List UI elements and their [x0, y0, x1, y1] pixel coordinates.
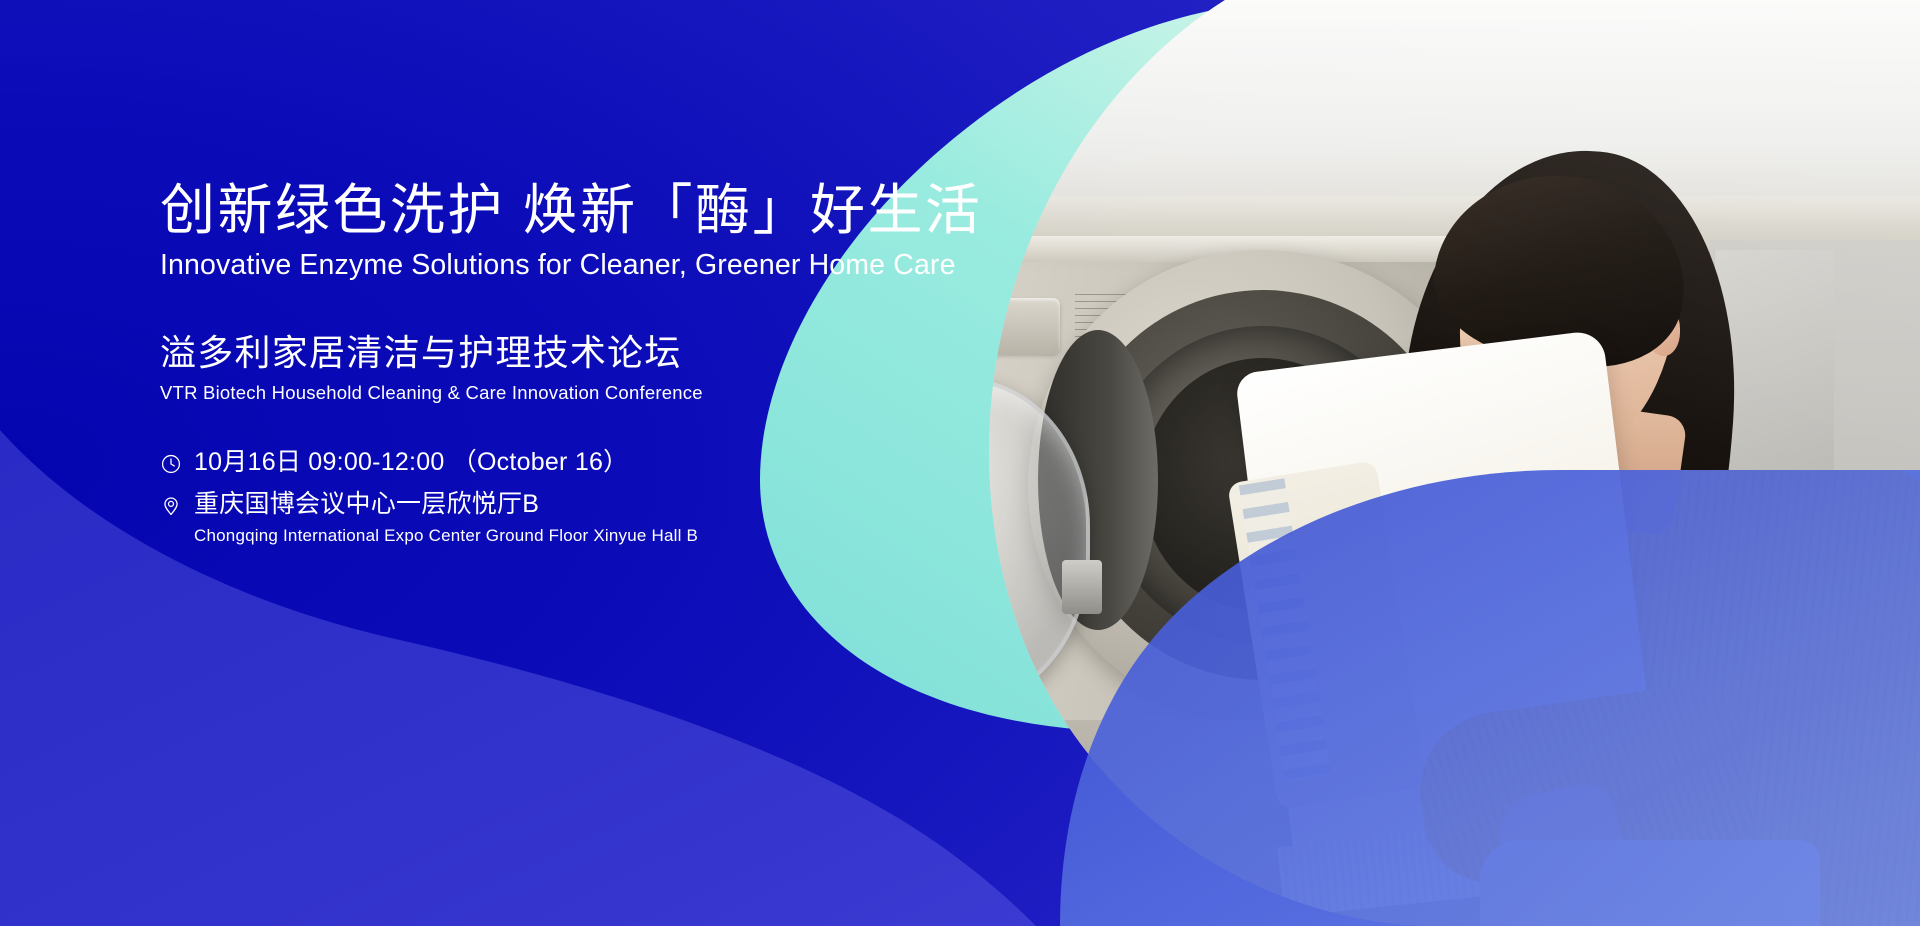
detail-row-datetime: 10月16日 09:00-12:00 （October 16）	[160, 447, 960, 478]
banner-content: 创新绿色洗护 焕新「酶」好生活 Innovative Enzyme Soluti…	[160, 180, 960, 557]
venue-chinese: 重庆国博会议中心一层欣悦厅B	[194, 489, 698, 520]
clock-icon	[160, 453, 182, 475]
event-datetime: 10月16日 09:00-12:00 （October 16）	[194, 447, 628, 478]
event-details: 10月16日 09:00-12:00 （October 16） 重庆国博会议中心…	[160, 447, 960, 547]
conference-name-chinese: 溢多利家居清洁与护理技术论坛	[160, 331, 960, 374]
headline-chinese: 创新绿色洗护 焕新「酶」好生活	[160, 180, 960, 242]
event-banner: 创新绿色洗护 焕新「酶」好生活 Innovative Enzyme Soluti…	[0, 0, 1920, 926]
detail-row-venue: 重庆国博会议中心一层欣悦厅B Chongqing International E…	[160, 489, 960, 547]
conference-name-english: VTR Biotech Household Cleaning & Care In…	[160, 381, 960, 405]
headline-english: Innovative Enzyme Solutions for Cleaner,…	[160, 248, 960, 284]
location-pin-icon	[160, 495, 182, 517]
venue-english: Chongqing International Expo Center Grou…	[194, 525, 698, 547]
